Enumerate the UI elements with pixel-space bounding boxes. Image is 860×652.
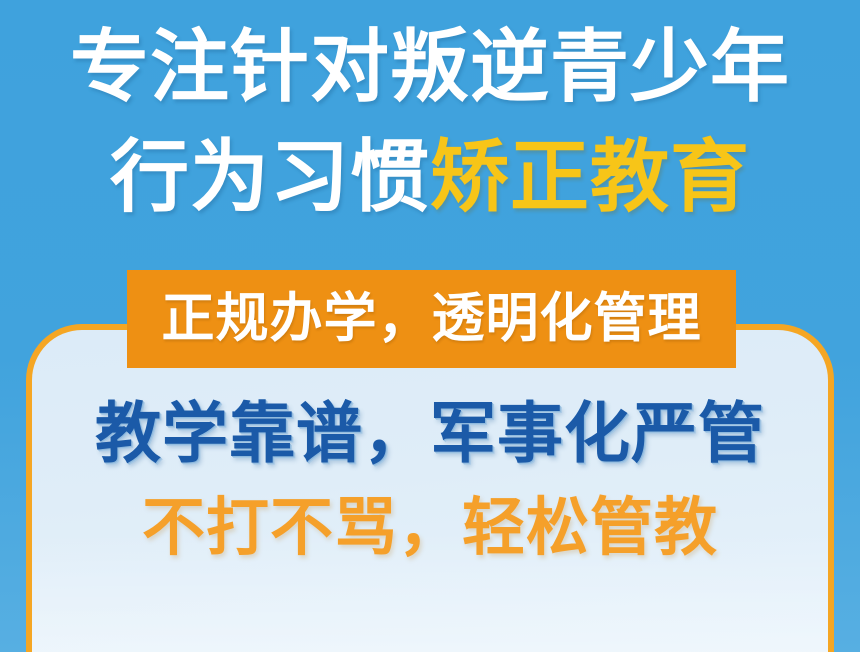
headline-line-2: 行为习惯矫正教育: [0, 127, 860, 227]
feature-card: [26, 324, 834, 652]
headline-block: 专注针对叛逆青少年 行为习惯矫正教育: [0, 0, 860, 255]
headline-line-2-white: 行为习惯: [110, 132, 430, 221]
headline-line-2-gold: 矫正教育: [430, 132, 750, 221]
headline-line-1: 专注针对叛逆青少年: [0, 17, 860, 117]
orange-banner-text: 正规办学，透明化管理: [162, 270, 702, 368]
poster-root: 专注针对叛逆青少年 行为习惯矫正教育 正规办学，透明化管理 教学靠谱，军事化严管…: [0, 0, 860, 652]
orange-banner: 正规办学，透明化管理: [127, 270, 736, 368]
